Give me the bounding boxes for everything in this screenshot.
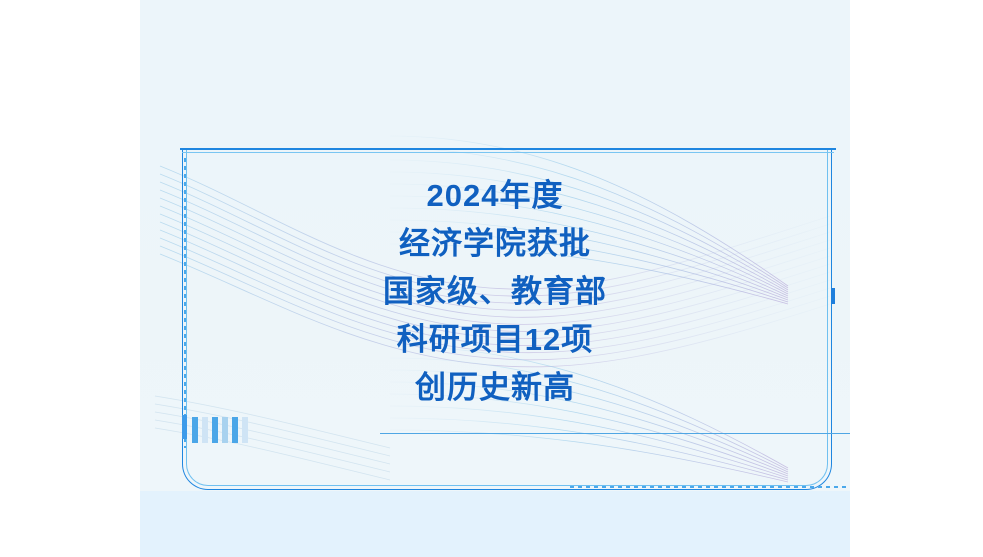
title-line-3: 国家级、教育部 <box>140 268 850 316</box>
horizontal-divider-line <box>380 433 850 434</box>
deco-bar <box>222 417 228 443</box>
slide-canvas-page: 2024年度 经济学院获批 国家级、教育部 科研项目12项 创历史新高 <box>0 0 983 557</box>
slide-title: 2024年度 经济学院获批 国家级、教育部 科研项目12项 创历史新高 <box>140 172 850 412</box>
title-line-2: 经济学院获批 <box>140 220 850 268</box>
deco-bar <box>232 417 238 443</box>
deco-bar <box>212 417 218 443</box>
deco-bar <box>192 417 198 443</box>
top-rule-thick-line <box>180 148 836 150</box>
deco-bar <box>242 417 248 443</box>
bar-chart-decoration <box>192 417 248 443</box>
frame-top-rule <box>180 148 836 154</box>
title-line-4: 科研项目12项 <box>140 316 850 364</box>
deco-bar <box>202 417 208 443</box>
title-line-5: 创历史新高 <box>140 364 850 412</box>
title-line-1: 2024年度 <box>140 172 850 220</box>
presentation-slide: 2024年度 经济学院获批 国家级、教育部 科研项目12项 创历史新高 <box>140 0 850 557</box>
bottom-border-dashes <box>570 486 850 488</box>
left-border-accent-block <box>182 415 187 439</box>
top-rule-thin-line <box>182 152 834 153</box>
